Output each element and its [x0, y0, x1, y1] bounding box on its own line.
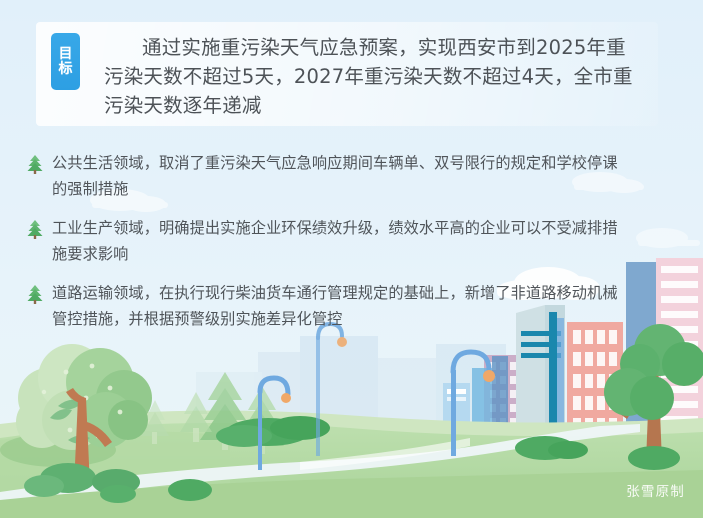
- pine-tree-icon: [26, 154, 44, 174]
- goal-badge-char-1: 目: [59, 47, 73, 61]
- goal-badge: 目 标: [51, 33, 80, 90]
- infographic-poster: 目 标 通过实施重污染天气应急预案，实现西安市到2025年重污染天数不超过5天，…: [0, 0, 703, 518]
- author-credit: 张雪原制: [626, 480, 685, 500]
- pine-tree-icon: [26, 219, 44, 239]
- list-item-text: 道路运输领域，在执行现行柴油货车通行管理规定的基础上，新增了非道路移动机械管控措…: [52, 280, 622, 332]
- list-item: 道路运输领域，在执行现行柴油货车通行管理规定的基础上，新增了非道路移动机械管控措…: [26, 280, 622, 332]
- list-item-text: 工业生产领域，明确提出实施企业环保绩效升级，绩效水平高的企业可以不受减排措施要求…: [52, 215, 622, 267]
- measures-list: 公共生活领域，取消了重污染天气应急响应期间车辆单、双号限行的规定和学校停课的强制…: [26, 150, 622, 345]
- pine-tree-icon: [26, 284, 44, 304]
- list-item: 工业生产领域，明确提出实施企业环保绩效升级，绩效水平高的企业可以不受减排措施要求…: [26, 215, 622, 267]
- list-item-text: 公共生活领域，取消了重污染天气应急响应期间车辆单、双号限行的规定和学校停课的强制…: [52, 150, 622, 202]
- list-item: 公共生活领域，取消了重污染天气应急响应期间车辆单、双号限行的规定和学校停课的强制…: [26, 150, 622, 202]
- goal-statement: 通过实施重污染天气应急预案，实现西安市到2025年重污染天数不超过5天，2027…: [104, 33, 644, 120]
- goal-badge-char-2: 标: [59, 62, 73, 76]
